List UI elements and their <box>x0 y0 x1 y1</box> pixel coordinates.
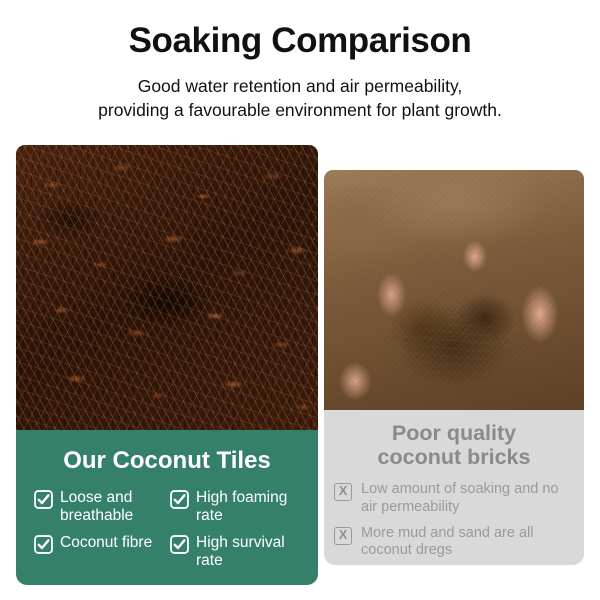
bad-product-card: Poor quality coconut bricks X Low amount… <box>324 410 584 565</box>
coir-fibre-photo <box>16 145 318 430</box>
check-icon <box>34 490 53 509</box>
bad-feature-list: X Low amount of soaking and no air perme… <box>334 481 574 560</box>
good-feature-label: Loose and breathable <box>60 489 166 525</box>
bad-card-title-line-1: Poor quality <box>334 421 574 445</box>
list-item: Loose and breathable <box>34 489 170 525</box>
good-card-title: Our Coconut Tiles <box>28 442 306 475</box>
list-item: High foaming rate <box>170 489 306 525</box>
list-item: High survival rate <box>170 534 306 570</box>
x-mark-icon: X <box>334 527 352 545</box>
x-mark-icon: X <box>334 483 352 501</box>
subtitle-line-1: Good water retention and air permeabilit… <box>0 74 600 99</box>
page-subtitle: Good water retention and air permeabilit… <box>0 74 600 124</box>
bad-card-title: Poor quality coconut bricks <box>334 419 574 469</box>
check-icon <box>170 535 189 554</box>
good-feature-label: High foaming rate <box>196 489 302 525</box>
subtitle-line-2: providing a favourable environment for p… <box>0 98 600 123</box>
check-icon <box>170 490 189 509</box>
soaking-comparison-infographic: Soaking Comparison Good water retention … <box>0 0 600 600</box>
bad-feature-label: Low amount of soaking and no air permeab… <box>361 481 574 516</box>
comparison-column-good: Our Coconut Tiles Loose and breathable <box>16 145 318 585</box>
good-card-title-line-1: Our Coconut Tiles <box>28 448 306 475</box>
check-icon <box>34 535 53 554</box>
page-title: Soaking Comparison <box>0 22 600 61</box>
list-item: X More mud and sand are all coconut dreg… <box>334 525 574 560</box>
comparison-columns: Our Coconut Tiles Loose and breathable <box>0 145 600 585</box>
list-item: X Low amount of soaking and no air perme… <box>334 481 574 516</box>
header: Soaking Comparison Good water retention … <box>0 0 600 123</box>
hand-soil-photo <box>324 170 584 410</box>
good-feature-label: High survival rate <box>196 534 302 570</box>
comparison-column-bad: Poor quality coconut bricks X Low amount… <box>324 145 584 585</box>
bad-card-title-line-2: coconut bricks <box>334 445 574 469</box>
good-feature-label: Coconut fibre <box>60 534 152 552</box>
good-product-card: Our Coconut Tiles Loose and breathable <box>16 430 318 585</box>
bad-feature-label: More mud and sand are all coconut dregs <box>361 525 574 560</box>
good-feature-list: Loose and breathable High foaming rate <box>28 489 306 579</box>
list-item: Coconut fibre <box>34 534 170 570</box>
